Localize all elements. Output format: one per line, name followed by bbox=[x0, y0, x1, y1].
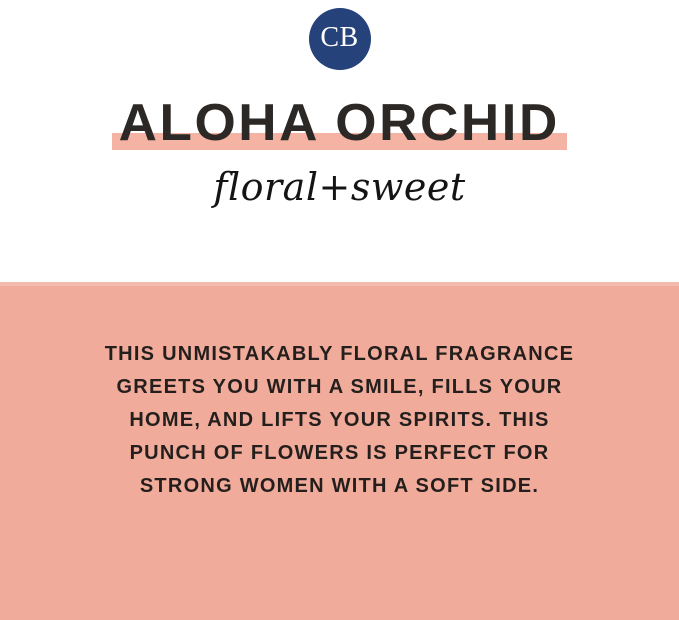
logo-initials: CB bbox=[320, 24, 358, 52]
product-title-block: ALOHA ORCHID bbox=[0, 92, 679, 154]
brand-logo: CB bbox=[0, 8, 679, 70]
description-line: GREETS YOU WITH A SMILE, FILLS YOUR bbox=[90, 371, 589, 404]
panel-top-edge bbox=[0, 282, 679, 286]
description-text: THIS UNMISTAKABLY FLORAL FRAGRANCE GREET… bbox=[90, 338, 589, 503]
description-line: HOME, AND LIFTS YOUR SPIRITS. THIS bbox=[90, 404, 589, 437]
description-line: PUNCH OF FLOWERS IS PERFECT FOR bbox=[90, 437, 589, 470]
description-line: THIS UNMISTAKABLY FLORAL FRAGRANCE bbox=[90, 338, 589, 371]
scent-subtitle: floral+sweet bbox=[0, 163, 679, 211]
cb-monogram-icon: CB bbox=[309, 8, 371, 70]
description-line: STRONG WOMEN WITH A SOFT SIDE. bbox=[90, 470, 589, 503]
title-inner: ALOHA ORCHID bbox=[121, 95, 558, 151]
page-title: ALOHA ORCHID bbox=[119, 95, 560, 151]
description-panel: THIS UNMISTAKABLY FLORAL FRAGRANCE GREET… bbox=[0, 282, 679, 620]
product-label-card: CB ALOHA ORCHID floral+sweet THIS UNMIST… bbox=[0, 0, 679, 620]
